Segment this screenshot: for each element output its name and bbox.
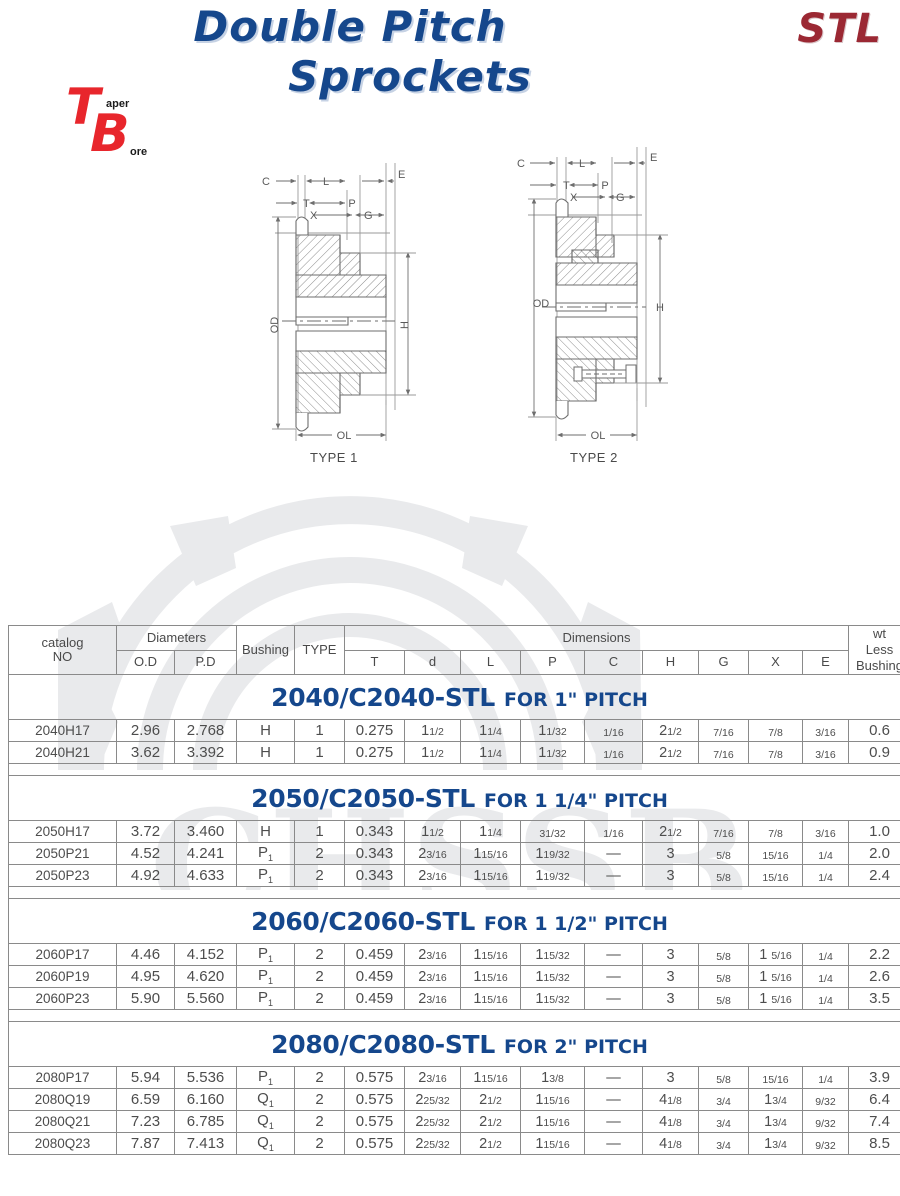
cell-dim-e: 1/4: [803, 865, 849, 887]
cell-dim-h: 41/8: [643, 1089, 699, 1111]
cell-od: 2.96: [117, 720, 175, 742]
table-row: 2050P234.924.633P120.34323/16115/16119/3…: [9, 865, 900, 887]
section-spacer: [9, 764, 900, 776]
header-bushing: Bushing: [237, 626, 295, 675]
header-od: O.D: [117, 650, 175, 675]
cell-dim-t: 0.343: [345, 843, 405, 865]
cell-dim-g: 5/8: [699, 966, 749, 988]
cell-dim-t: 0.343: [345, 865, 405, 887]
cell-od: 4.92: [117, 865, 175, 887]
cell-bushing: P1: [237, 944, 295, 966]
cell-dim-h: 21/2: [643, 821, 699, 843]
section-pitch: FOR 2" PITCH: [504, 1036, 648, 1058]
section-code: 2060/C2060-STL: [251, 907, 475, 936]
svg-text:P: P: [348, 198, 355, 210]
cell-od: 5.94: [117, 1067, 175, 1089]
cell-pd: 7.413: [175, 1133, 237, 1155]
cell-dim-e: 3/16: [803, 821, 849, 843]
section-pitch: FOR 1 1/2" PITCH: [484, 913, 668, 935]
header-pd: P.D: [175, 650, 237, 675]
svg-text:L: L: [579, 158, 585, 170]
svg-text:G: G: [616, 192, 625, 204]
cell-dim-d: 225/32: [405, 1111, 461, 1133]
cell-dim-l: 11/4: [461, 742, 521, 764]
svg-text:OL: OL: [337, 430, 352, 442]
table-row: 2080P175.945.536P120.57523/16115/1613/8—…: [9, 1067, 900, 1089]
cell-pd: 4.633: [175, 865, 237, 887]
cell-pd: 4.241: [175, 843, 237, 865]
svg-text:E: E: [650, 152, 657, 164]
drawing-type-2: C L E T P X G: [517, 147, 668, 442]
cell-type: 2: [295, 944, 345, 966]
cell-dim-c: —: [585, 988, 643, 1010]
cell-dim-t: 0.459: [345, 988, 405, 1010]
table-row: 2060P194.954.620P120.45923/16115/16115/3…: [9, 966, 900, 988]
cell-bushing: P1: [237, 1067, 295, 1089]
header-catalog-line1: catalog: [9, 636, 116, 650]
cell-pd: 2.768: [175, 720, 237, 742]
cell-dim-p: 11/32: [521, 742, 585, 764]
svg-text:OL: OL: [591, 430, 606, 442]
cell-dim-g: 7/16: [699, 821, 749, 843]
cell-dim-h: 3: [643, 1067, 699, 1089]
svg-text:X: X: [570, 192, 578, 204]
cell-dim-e: 3/16: [803, 742, 849, 764]
cell-dim-c: —: [585, 843, 643, 865]
section-title: 2050/C2050-STLFOR 1 1/4" PITCH: [9, 776, 900, 821]
cell-pd: 4.620: [175, 966, 237, 988]
cell-catalog-no: 2060P23: [9, 988, 117, 1010]
technical-drawings: C L E T P X G: [0, 145, 900, 475]
cell-type: 1: [295, 742, 345, 764]
cell-dim-x: 7/8: [749, 742, 803, 764]
cell-wt: 2.0: [849, 843, 900, 865]
cell-wt: 7.4: [849, 1111, 900, 1133]
cell-wt: 3.9: [849, 1067, 900, 1089]
section-spacer-row: [9, 887, 900, 899]
cell-catalog-no: 2060P19: [9, 966, 117, 988]
cell-dim-e: 1/4: [803, 944, 849, 966]
brand-logo-stl: STL: [797, 6, 882, 52]
svg-text:T: T: [563, 180, 570, 192]
cell-type: 2: [295, 966, 345, 988]
cell-dim-h: 3: [643, 966, 699, 988]
cell-od: 6.59: [117, 1089, 175, 1111]
header-type: TYPE: [295, 626, 345, 675]
cell-type: 2: [295, 1111, 345, 1133]
svg-text:T: T: [303, 198, 310, 210]
cell-pd: 6.785: [175, 1111, 237, 1133]
cell-dim-p: 119/32: [521, 865, 585, 887]
header-dimensions: Dimensions: [345, 626, 849, 651]
cell-dim-t: 0.459: [345, 944, 405, 966]
header-dim-h: H: [643, 650, 699, 675]
cell-dim-t: 0.343: [345, 821, 405, 843]
cell-catalog-no: 2040H21: [9, 742, 117, 764]
header-dim-d: d: [405, 650, 461, 675]
cell-type: 2: [295, 1133, 345, 1155]
cell-dim-e: 3/16: [803, 720, 849, 742]
cell-dim-x: 13/4: [749, 1133, 803, 1155]
table-header-row-1: catalog NO Diameters Bushing TYPE Dimens…: [9, 626, 900, 651]
cell-dim-h: 3: [643, 843, 699, 865]
cell-dim-d: 11/2: [405, 720, 461, 742]
section-spacer: [9, 1010, 900, 1022]
cell-dim-d: 225/32: [405, 1133, 461, 1155]
header-dim-g: G: [699, 650, 749, 675]
cell-dim-x: 15/16: [749, 865, 803, 887]
cell-dim-x: 13/4: [749, 1111, 803, 1133]
cell-bushing: H: [237, 742, 295, 764]
svg-text:H: H: [399, 321, 411, 329]
cell-type: 2: [295, 865, 345, 887]
svg-text:L: L: [323, 176, 329, 188]
section-code: 2040/C2040-STL: [271, 683, 495, 712]
section-pitch: FOR 1 1/4" PITCH: [484, 790, 668, 812]
cell-dim-e: 1/4: [803, 988, 849, 1010]
cell-od: 7.23: [117, 1111, 175, 1133]
cell-dim-g: 7/16: [699, 742, 749, 764]
cell-dim-e: 1/4: [803, 966, 849, 988]
cell-pd: 4.152: [175, 944, 237, 966]
cell-dim-t: 0.459: [345, 966, 405, 988]
cell-dim-h: 41/8: [643, 1133, 699, 1155]
table-row: 2060P174.464.152P120.45923/16115/16115/3…: [9, 944, 900, 966]
table-row: 2050H173.723.460H10.34311/211/431/321/16…: [9, 821, 900, 843]
svg-text:C: C: [262, 176, 270, 188]
table-row: 2050P214.524.241P120.34323/16115/16119/3…: [9, 843, 900, 865]
cell-dim-t: 0.275: [345, 720, 405, 742]
cell-dim-p: 13/8: [521, 1067, 585, 1089]
cell-dim-t: 0.575: [345, 1067, 405, 1089]
header-dim-p: P: [521, 650, 585, 675]
header-catalog-line2: NO: [9, 650, 116, 664]
cell-dim-l: 115/16: [461, 843, 521, 865]
cell-dim-l: 21/2: [461, 1111, 521, 1133]
cell-od: 4.95: [117, 966, 175, 988]
cell-pd: 5.536: [175, 1067, 237, 1089]
cell-dim-c: 1/16: [585, 821, 643, 843]
cell-dim-g: 5/8: [699, 843, 749, 865]
table-header-row-2: O.D P.D T d L P C H G X E: [9, 650, 900, 675]
header-diameters: Diameters: [117, 626, 237, 651]
cell-dim-p: 115/16: [521, 1111, 585, 1133]
cell-od: 4.46: [117, 944, 175, 966]
cell-dim-d: 23/16: [405, 966, 461, 988]
cell-bushing: Q1: [237, 1111, 295, 1133]
cell-dim-l: 21/2: [461, 1133, 521, 1155]
svg-text:C: C: [517, 158, 525, 170]
cell-wt: 6.4: [849, 1089, 900, 1111]
cell-dim-l: 115/16: [461, 865, 521, 887]
cell-dim-h: 3: [643, 944, 699, 966]
cell-od: 3.72: [117, 821, 175, 843]
cell-catalog-no: 2080Q21: [9, 1111, 117, 1133]
section-title: 2060/C2060-STLFOR 1 1/2" PITCH: [9, 899, 900, 944]
table-row: 2040H172.962.768H10.27511/211/411/321/16…: [9, 720, 900, 742]
cell-dim-l: 115/16: [461, 966, 521, 988]
cell-dim-d: 225/32: [405, 1089, 461, 1111]
cell-dim-x: 7/8: [749, 821, 803, 843]
table-row: 2060P235.905.560P120.45923/16115/16115/3…: [9, 988, 900, 1010]
section-spacer-row: [9, 1010, 900, 1022]
table-row: 2040H213.623.392H10.27511/211/411/321/16…: [9, 742, 900, 764]
cell-dim-e: 9/32: [803, 1089, 849, 1111]
cell-wt: 2.6: [849, 966, 900, 988]
cell-dim-c: 1/16: [585, 742, 643, 764]
cell-dim-c: 1/16: [585, 720, 643, 742]
svg-text:E: E: [398, 169, 405, 181]
cell-dim-p: 115/32: [521, 966, 585, 988]
header-wt-line2: Less: [849, 642, 900, 658]
cell-pd: 6.160: [175, 1089, 237, 1111]
cell-od: 5.90: [117, 988, 175, 1010]
cell-dim-g: 3/4: [699, 1089, 749, 1111]
cell-dim-l: 21/2: [461, 1089, 521, 1111]
cell-wt: 2.4: [849, 865, 900, 887]
header-dim-e: E: [803, 650, 849, 675]
cell-dim-c: —: [585, 966, 643, 988]
cell-dim-p: 119/32: [521, 843, 585, 865]
header-dim-t: T: [345, 650, 405, 675]
cell-dim-p: 115/16: [521, 1089, 585, 1111]
cell-dim-t: 0.575: [345, 1111, 405, 1133]
cell-catalog-no: 2050H17: [9, 821, 117, 843]
cell-dim-x: 13/4: [749, 1089, 803, 1111]
drawing-type-1: C L E T P X G: [262, 163, 416, 442]
section-code: 2080/C2080-STL: [271, 1030, 495, 1059]
cell-bushing: H: [237, 720, 295, 742]
cell-type: 2: [295, 1089, 345, 1111]
cell-pd: 3.392: [175, 742, 237, 764]
cell-dim-g: 5/8: [699, 988, 749, 1010]
cell-dim-d: 23/16: [405, 843, 461, 865]
cell-bushing: P1: [237, 988, 295, 1010]
cell-catalog-no: 2080Q23: [9, 1133, 117, 1155]
cell-catalog-no: 2080P17: [9, 1067, 117, 1089]
cell-catalog-no: 2080Q19: [9, 1089, 117, 1111]
cell-wt: 0.9: [849, 742, 900, 764]
cell-dim-p: 115/32: [521, 988, 585, 1010]
section-spacer: [9, 887, 900, 899]
cell-dim-d: 23/16: [405, 1067, 461, 1089]
cell-dim-g: 5/8: [699, 1067, 749, 1089]
cell-dim-e: 1/4: [803, 1067, 849, 1089]
taper-bore-b: B: [90, 108, 130, 160]
section-pitch: FOR 1" PITCH: [504, 689, 648, 711]
cell-dim-h: 21/2: [643, 742, 699, 764]
cell-dim-d: 11/2: [405, 821, 461, 843]
cell-dim-h: 3: [643, 865, 699, 887]
cell-dim-g: 3/4: [699, 1133, 749, 1155]
cell-dim-t: 0.275: [345, 742, 405, 764]
header-catalog-no: catalog NO: [9, 626, 117, 675]
cell-dim-h: 21/2: [643, 720, 699, 742]
cell-od: 4.52: [117, 843, 175, 865]
cell-catalog-no: 2050P21: [9, 843, 117, 865]
specification-table: catalog NO Diameters Bushing TYPE Dimens…: [8, 625, 900, 1155]
cell-dim-g: 5/8: [699, 865, 749, 887]
section-title: 2080/C2080-STLFOR 2" PITCH: [9, 1022, 900, 1067]
section-title-row: 2060/C2060-STLFOR 1 1/2" PITCH: [9, 899, 900, 944]
cell-dim-t: 0.575: [345, 1133, 405, 1155]
cell-wt: 0.6: [849, 720, 900, 742]
cell-wt: 3.5: [849, 988, 900, 1010]
table-row: 2080Q217.236.785Q120.575225/3221/2115/16…: [9, 1111, 900, 1133]
cell-dim-l: 11/4: [461, 720, 521, 742]
cell-bushing: P1: [237, 843, 295, 865]
cell-catalog-no: 2040H17: [9, 720, 117, 742]
cell-dim-e: 1/4: [803, 843, 849, 865]
cell-dim-t: 0.575: [345, 1089, 405, 1111]
section-title-row: 2040/C2040-STLFOR 1" PITCH: [9, 675, 900, 720]
svg-text:H: H: [656, 302, 664, 314]
cell-wt: 1.0: [849, 821, 900, 843]
cell-dim-d: 23/16: [405, 988, 461, 1010]
cell-dim-c: —: [585, 1111, 643, 1133]
cell-dim-x: 15/16: [749, 843, 803, 865]
cell-dim-x: 7/8: [749, 720, 803, 742]
section-spacer-row: [9, 764, 900, 776]
cell-bushing: P1: [237, 865, 295, 887]
cell-dim-x: 1 5/16: [749, 944, 803, 966]
cell-dim-p: 115/32: [521, 944, 585, 966]
svg-text:P: P: [601, 180, 608, 192]
cell-dim-p: 11/32: [521, 720, 585, 742]
cell-dim-x: 15/16: [749, 1067, 803, 1089]
cell-dim-c: —: [585, 1067, 643, 1089]
cell-dim-e: 9/32: [803, 1111, 849, 1133]
section-title: 2040/C2040-STLFOR 1" PITCH: [9, 675, 900, 720]
cell-dim-l: 115/16: [461, 988, 521, 1010]
cell-dim-p: 115/16: [521, 1133, 585, 1155]
cell-bushing: H: [237, 821, 295, 843]
header-dim-c: C: [585, 650, 643, 675]
cell-dim-d: 23/16: [405, 944, 461, 966]
section-code: 2050/C2050-STL: [251, 784, 475, 813]
cell-type: 1: [295, 821, 345, 843]
header-wt-line1: wt: [849, 626, 900, 642]
cell-bushing: Q1: [237, 1133, 295, 1155]
header-dim-x: X: [749, 650, 803, 675]
cell-dim-g: 3/4: [699, 1111, 749, 1133]
cell-pd: 3.460: [175, 821, 237, 843]
cell-type: 2: [295, 843, 345, 865]
cell-dim-g: 5/8: [699, 944, 749, 966]
cell-dim-d: 23/16: [405, 865, 461, 887]
cell-dim-l: 11/4: [461, 821, 521, 843]
cell-type: 1: [295, 720, 345, 742]
taper-bore-ore: ore: [130, 146, 147, 158]
cell-dim-l: 115/16: [461, 1067, 521, 1089]
section-title-row: 2080/C2080-STLFOR 2" PITCH: [9, 1022, 900, 1067]
cell-dim-x: 1 5/16: [749, 966, 803, 988]
svg-text:OD: OD: [533, 298, 550, 310]
cell-dim-g: 7/16: [699, 720, 749, 742]
svg-text:X: X: [310, 210, 318, 222]
table-row: 2080Q237.877.413Q120.575225/3221/2115/16…: [9, 1133, 900, 1155]
cell-catalog-no: 2050P23: [9, 865, 117, 887]
cell-dim-c: —: [585, 1133, 643, 1155]
cell-od: 3.62: [117, 742, 175, 764]
cell-catalog-no: 2060P17: [9, 944, 117, 966]
cell-dim-c: —: [585, 1089, 643, 1111]
cell-dim-p: 31/32: [521, 821, 585, 843]
header-wt-less-bushing: wt Less Bushing: [849, 626, 900, 675]
cell-type: 2: [295, 1067, 345, 1089]
cell-wt: 8.5: [849, 1133, 900, 1155]
taper-bore-logo: T aper B ore: [64, 86, 174, 170]
cell-type: 2: [295, 988, 345, 1010]
specification-table-wrapper: catalog NO Diameters Bushing TYPE Dimens…: [8, 625, 892, 1155]
header-dim-l: L: [461, 650, 521, 675]
cell-od: 7.87: [117, 1133, 175, 1155]
header-wt-line3: Bushing: [849, 658, 900, 674]
cell-dim-l: 115/16: [461, 944, 521, 966]
table-row: 2080Q196.596.160Q120.575225/3221/2115/16…: [9, 1089, 900, 1111]
cell-dim-h: 41/8: [643, 1111, 699, 1133]
svg-text:OD: OD: [269, 317, 281, 334]
cell-dim-e: 9/32: [803, 1133, 849, 1155]
cell-wt: 2.2: [849, 944, 900, 966]
svg-text:G: G: [364, 210, 373, 222]
cell-bushing: Q1: [237, 1089, 295, 1111]
section-title-row: 2050/C2050-STLFOR 1 1/4" PITCH: [9, 776, 900, 821]
cell-dim-c: —: [585, 944, 643, 966]
table-body: 2040/C2040-STLFOR 1" PITCH2040H172.962.7…: [9, 675, 900, 1155]
cell-dim-h: 3: [643, 988, 699, 1010]
cell-dim-x: 1 5/16: [749, 988, 803, 1010]
cell-dim-c: —: [585, 865, 643, 887]
cell-dim-d: 11/2: [405, 742, 461, 764]
cell-pd: 5.560: [175, 988, 237, 1010]
page-title-line1: Double Pitch: [193, 2, 506, 51]
cell-bushing: P1: [237, 966, 295, 988]
